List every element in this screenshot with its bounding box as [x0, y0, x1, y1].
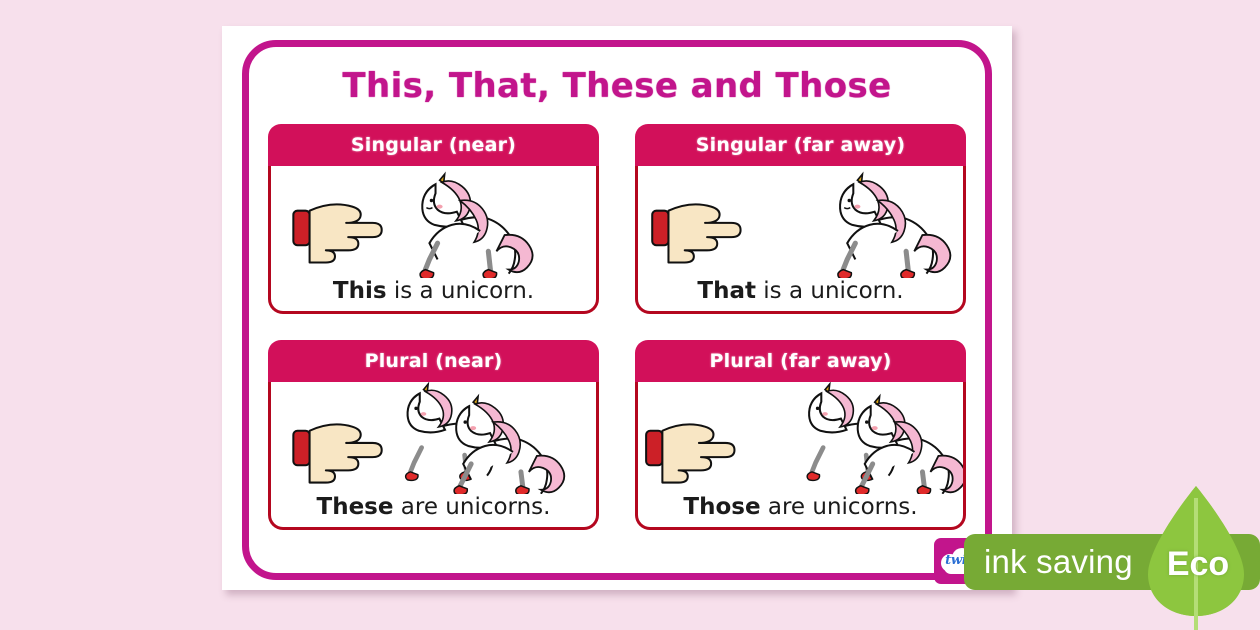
card-header: Plural (near) [268, 340, 599, 382]
unicorn-figure-front [454, 396, 564, 494]
card-plural-near[interactable]: Plural (near) [268, 340, 599, 530]
pointing-hand-icon [646, 424, 734, 482]
pointing-hand-and-unicorn-illustration [271, 166, 596, 278]
caption-rest: is a unicorn. [387, 278, 535, 304]
card-caption: That is a unicorn. [697, 278, 903, 310]
illustration-this [271, 166, 596, 278]
card-grid: Singular (near) [268, 124, 966, 530]
card-header: Plural (far away) [635, 340, 966, 382]
illustration-these [271, 382, 596, 494]
page-title: This, That, These and Those [222, 66, 1012, 106]
card-caption: Those are unicorns. [683, 494, 917, 526]
caption-rest: is a unicorn. [756, 278, 904, 304]
pointing-hand-and-two-unicorns-illustration [271, 382, 596, 494]
card-singular-near[interactable]: Singular (near) [268, 124, 599, 314]
eco-label: Eco [1150, 545, 1246, 584]
card-body: That is a unicorn. [635, 166, 966, 314]
unicorn-figure [420, 174, 532, 278]
pointing-hand-icon [293, 424, 381, 482]
card-body: These are unicorns. [268, 382, 599, 530]
pointing-hand-icon [652, 204, 740, 262]
card-body: This is a unicorn. [268, 166, 599, 314]
caption-keyword: These [317, 494, 394, 520]
card-singular-far[interactable]: Singular (far away) [635, 124, 966, 314]
pointing-hand-and-two-unicorns-illustration [638, 382, 963, 494]
unicorn-figure [838, 174, 950, 278]
ink-saving-label: ink saving [984, 543, 1133, 581]
caption-keyword: That [697, 278, 756, 304]
illustration-those [638, 382, 963, 494]
card-caption: This is a unicorn. [333, 278, 534, 310]
caption-keyword: Those [683, 494, 760, 520]
card-plural-far[interactable]: Plural (far away) [635, 340, 966, 530]
poster-page: This, That, These and Those Singular (ne… [222, 26, 1012, 590]
caption-keyword: This [333, 278, 387, 304]
illustration-that [638, 166, 963, 278]
pointing-hand-icon [293, 204, 381, 262]
card-caption: These are unicorns. [317, 494, 551, 526]
card-body: Those are unicorns. [635, 382, 966, 530]
caption-rest: are unicorns. [761, 494, 918, 520]
card-header: Singular (far away) [635, 124, 966, 166]
pointing-hand-and-unicorn-illustration [638, 166, 963, 278]
unicorn-figure-front [856, 396, 963, 494]
caption-rest: are unicorns. [393, 494, 550, 520]
card-header: Singular (near) [268, 124, 599, 166]
